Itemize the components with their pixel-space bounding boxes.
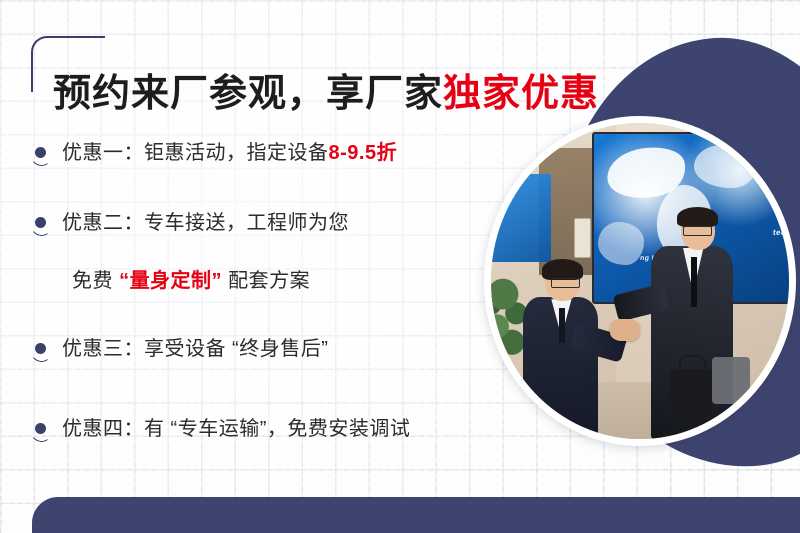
photo-scene: ted N ng United: [491, 123, 789, 439]
benefit-text: 优惠一：钜惠活动，指定设备8-9.5折: [62, 138, 397, 168]
screen-text-right: ted N: [772, 228, 789, 237]
subline-highlight: “量身定制”: [119, 270, 222, 292]
briefcase: [712, 357, 751, 404]
benefit-row: 优惠四：有 “专车运输”，免费安装调试: [30, 414, 500, 446]
promo-banner: 预约来厂参观，享厂家独家优惠 优惠一：钜惠活动，指定设备8-9.5折 优惠二：专…: [0, 0, 800, 533]
glasses-icon: [683, 226, 712, 236]
benefit-text: 优惠二：专车接送，工程师为您: [62, 208, 349, 238]
handshake-photo: ted N ng United: [491, 123, 789, 439]
list-item: 优惠四：有 “专车运输”，免费安装调试: [30, 414, 500, 446]
corner-bracket-stem: [31, 60, 33, 92]
bullet-dot-icon: [30, 214, 52, 236]
person-left: [515, 262, 616, 439]
benefit-label: 优惠四：有 “专车运输”，免费安装调试: [62, 418, 410, 440]
title-highlight-text: 独家优惠: [443, 73, 599, 115]
wall-control-panel: [574, 218, 591, 258]
title-plain-text: 预约来厂参观，享厂家: [53, 73, 443, 115]
subline-suffix: 配套方案: [222, 270, 310, 292]
list-item: 优惠二：专车接送，工程师为您 免费 “量身定制” 配套方案: [30, 208, 500, 296]
benefits-list: 优惠一：钜惠活动，指定设备8-9.5折 优惠二：专车接送，工程师为您 免费 “量…: [30, 138, 500, 446]
bullet-dot-icon: [30, 340, 52, 362]
benefit-subline: 免费 “量身定制” 配套方案: [72, 266, 500, 296]
secondary-screen: [491, 174, 551, 262]
page-title: 预约来厂参观，享厂家独家优惠: [53, 73, 599, 117]
bullet-dot-icon: [30, 144, 52, 166]
benefit-row: 优惠二：专车接送，工程师为您: [30, 208, 500, 240]
benefit-row: 优惠三：享受设备 “终身售后”: [30, 334, 500, 366]
bottom-navy-bar: [32, 497, 800, 533]
bullet-dot-icon: [30, 420, 52, 442]
handbag: [670, 369, 712, 420]
glasses-icon: [551, 278, 579, 288]
benefit-label: 优惠一：钜惠活动，指定设备: [62, 142, 329, 164]
handshake: [610, 319, 640, 341]
benefit-text: 优惠四：有 “专车运输”，免费安装调试: [62, 414, 410, 444]
subline-prefix: 免费: [72, 270, 119, 292]
list-item: 优惠三：享受设备 “终身售后”: [30, 334, 500, 366]
photo-circle-frame: ted N ng United: [484, 116, 796, 446]
benefit-row: 优惠一：钜惠活动，指定设备8-9.5折: [30, 138, 500, 170]
benefit-text: 优惠三：享受设备 “终身售后”: [62, 334, 328, 364]
benefit-highlight: 8-9.5折: [329, 142, 398, 164]
benefit-label: 优惠二：专车接送，工程师为您: [62, 212, 349, 234]
list-item: 优惠一：钜惠活动，指定设备8-9.5折: [30, 138, 500, 170]
benefit-label: 优惠三：享受设备 “终身售后”: [62, 338, 328, 360]
